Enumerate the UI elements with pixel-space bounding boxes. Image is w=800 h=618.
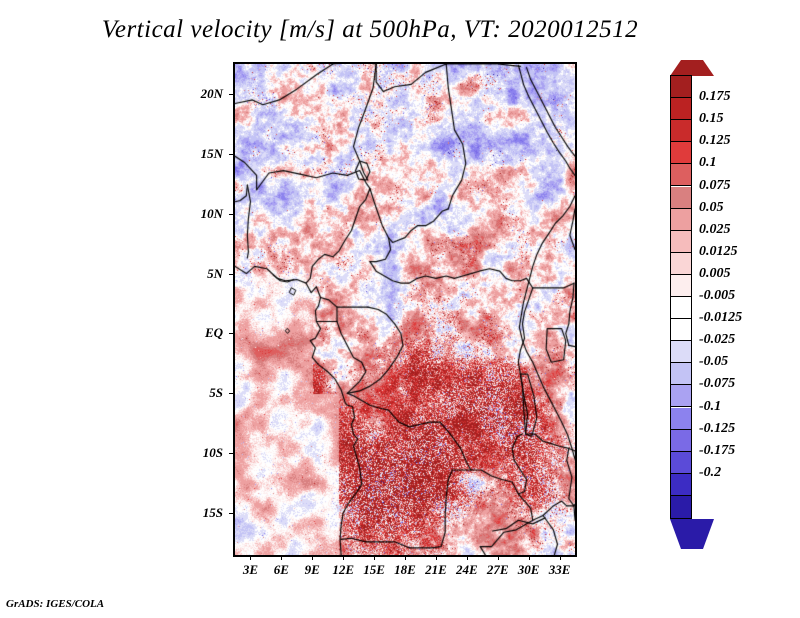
x-axis-tick (281, 555, 282, 560)
colorbar-band (671, 275, 691, 297)
colorbar-tick-label: 0.025 (699, 222, 731, 238)
colorbar-tick-label: 0.125 (699, 133, 731, 149)
y-axis-label: 5S (163, 385, 223, 401)
colorbar-arrow-bottom (670, 519, 714, 549)
colorbar-band (671, 408, 691, 430)
x-axis-tick (374, 555, 375, 560)
y-axis-tick (229, 214, 234, 215)
colorbar (670, 75, 692, 519)
y-axis-label: 10N (163, 206, 223, 222)
colorbar-tick-label: 0.005 (699, 266, 731, 282)
colorbar-tick-label: 0.075 (699, 178, 731, 194)
page-title: Vertical velocity [m/s] at 500hPa, VT: 2… (0, 16, 740, 44)
y-axis-tick (229, 154, 234, 155)
y-axis-tick (229, 333, 234, 334)
colorbar-tick-label: -0.075 (699, 376, 735, 392)
colorbar-band (671, 231, 691, 253)
colorbar-band (671, 474, 691, 496)
colorbar-band (671, 385, 691, 407)
colorbar-band (671, 341, 691, 363)
colorbar-band (671, 209, 691, 231)
x-axis-tick (560, 555, 561, 560)
x-axis-tick (312, 555, 313, 560)
x-axis-tick (343, 555, 344, 560)
colorbar-band (671, 297, 691, 319)
colorbar-band (671, 142, 691, 164)
colorbar-band (671, 430, 691, 452)
colorbar-band (671, 187, 691, 209)
grads-credit: GrADS: IGES/COLA (6, 598, 104, 610)
colorbar-tick-label: 0.05 (699, 200, 724, 216)
colorbar-tick-label: -0.0125 (699, 310, 742, 326)
y-axis-tick (229, 453, 234, 454)
colorbar-tick-label: -0.2 (699, 465, 721, 481)
colorbar-tick-label: 0.175 (699, 89, 731, 105)
colorbar-tick-label: -0.1 (699, 399, 721, 415)
colorbar-band (671, 253, 691, 275)
y-axis-tick (229, 513, 234, 514)
x-axis-tick (405, 555, 406, 560)
colorbar-band (671, 496, 691, 518)
colorbar-tick-label: 0.15 (699, 111, 724, 127)
y-axis-label: 5N (163, 266, 223, 282)
colorbar-band (671, 98, 691, 120)
colorbar-band (671, 363, 691, 385)
y-axis-tick (229, 274, 234, 275)
colorbar-tick-label: -0.025 (699, 332, 735, 348)
y-axis-tick (229, 94, 234, 95)
colorbar-tick-label: 0.0125 (699, 244, 738, 260)
x-axis-tick (436, 555, 437, 560)
x-axis-label: 33E (538, 562, 582, 578)
colorbar-tick-label: 0.1 (699, 155, 717, 171)
y-axis-label: EQ (163, 325, 223, 341)
colorbar-tick-label: -0.05 (699, 354, 728, 370)
x-axis-tick (250, 555, 251, 560)
colorbar-band (671, 120, 691, 142)
map-plot-area (233, 62, 577, 557)
colorbar-tick-label: -0.175 (699, 443, 735, 459)
colorbar-band (671, 452, 691, 474)
colorbar-band (671, 164, 691, 186)
y-axis-label: 15S (163, 505, 223, 521)
x-axis-tick (498, 555, 499, 560)
x-axis-tick (529, 555, 530, 560)
x-axis-tick (467, 555, 468, 560)
colorbar-tick-label: -0.005 (699, 288, 735, 304)
colorbar-arrow-top (670, 60, 714, 76)
y-axis-label: 15N (163, 146, 223, 162)
vertical-velocity-field (235, 64, 575, 555)
colorbar-band (671, 76, 691, 98)
y-axis-label: 20N (163, 86, 223, 102)
colorbar-band (671, 319, 691, 341)
y-axis-tick (229, 393, 234, 394)
y-axis-label: 10S (163, 445, 223, 461)
colorbar-tick-label: -0.125 (699, 421, 735, 437)
